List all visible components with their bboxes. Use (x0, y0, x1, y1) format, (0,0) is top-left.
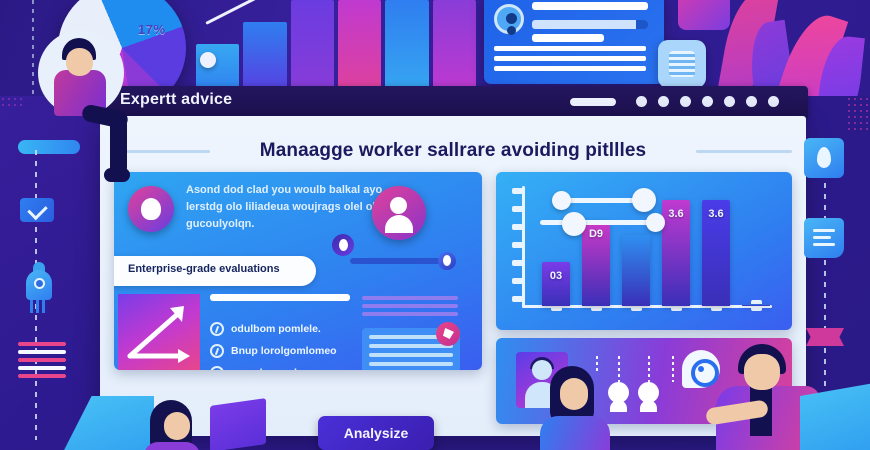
diamond-icon (804, 138, 844, 178)
chart-slider-top-knob-right[interactable] (632, 188, 656, 212)
check-badge-icon (20, 198, 54, 222)
y-tick (512, 206, 523, 212)
chart-bar: 3.6 (702, 200, 731, 306)
analysis-button[interactable]: Analysize (318, 416, 434, 450)
y-tick (512, 278, 523, 284)
target-icon (682, 350, 720, 388)
infographic-canvas: 17% Expertt advice Manaagge worker sallr… (0, 0, 870, 450)
chart-bar-label: D9 (582, 228, 611, 240)
hero-bar-group (196, 0, 476, 96)
chart-slider-bottom-knob-right[interactable] (646, 213, 665, 232)
page-title: Manaagge worker sallrare avoiding pitlll… (100, 140, 806, 162)
card-line (532, 2, 648, 10)
hero-bar (338, 0, 381, 96)
panel-side-rows (362, 296, 458, 320)
team-avatar-2 (638, 382, 659, 403)
hero-bar (433, 0, 476, 96)
chart-slider-top[interactable] (560, 198, 640, 203)
dashed-connector-right (824, 150, 826, 430)
chart-bars: 03D93.63.6 (536, 186, 776, 306)
toolbar-pill[interactable] (570, 98, 616, 106)
card-text-rows (494, 46, 646, 76)
chart-bar-label: 3.6 (702, 208, 731, 220)
toolbar-title: Expertt advice (120, 91, 232, 109)
y-tick (512, 242, 523, 248)
panel-body-text: Asond dod clad you woulb balkal ayo lers… (186, 182, 386, 233)
feature-pill[interactable]: Enterprise-grade evaluations (114, 256, 316, 286)
list-item-label: odulbom pomlele. (231, 323, 321, 335)
chart-bar-label: 03 (542, 270, 571, 282)
seated-person-icon (26, 12, 136, 192)
list-item-label: orocalrg eanlom rga. (231, 367, 335, 370)
y-tick (512, 224, 523, 230)
toolbar-dot[interactable] (724, 96, 735, 107)
analysis-button-label: Analysize (344, 425, 409, 441)
hero-bar (291, 0, 334, 96)
toolbar-dot[interactable] (658, 96, 669, 107)
stack-icon (658, 40, 706, 88)
profile-card (484, 0, 664, 84)
pin-icon (332, 234, 354, 256)
org-connector (672, 356, 674, 382)
growth-arrow-icon (118, 294, 200, 370)
chart-bar: 3.6 (662, 200, 691, 306)
chart-bar: 03 (542, 262, 571, 306)
main-window: Manaagge worker sallrare avoiding pitlll… (100, 116, 806, 436)
user-avatar-icon (372, 186, 426, 240)
hero-chip-tile (678, 0, 730, 30)
progress-bar (532, 20, 648, 29)
laptop-icon (210, 398, 266, 450)
toolbar-dot[interactable] (636, 96, 647, 107)
list-item: odulbom pomlele. (210, 322, 337, 336)
y-tick (512, 188, 523, 194)
lightbulb-icon (128, 186, 174, 232)
chart-slider-top-knob-left[interactable] (552, 191, 571, 210)
chart-bar-label: 3.6 (662, 208, 691, 220)
chart-bar (622, 235, 651, 306)
org-connector (648, 356, 650, 382)
check-circle-icon (210, 322, 224, 336)
document-icon (804, 218, 844, 258)
chart-slider-bottom-knob-left[interactable] (562, 212, 586, 236)
toolbar-dot[interactable] (746, 96, 757, 107)
feature-pill-label: Enterprise-grade evaluations (128, 263, 280, 275)
chart-bar: D9 (582, 220, 611, 306)
y-tick (512, 296, 523, 302)
hero-bar (243, 22, 286, 96)
toolbar-dots[interactable] (636, 96, 779, 107)
chart-bar (742, 304, 771, 306)
toolbar-dot[interactable] (702, 96, 713, 107)
ribbon-icon (806, 328, 844, 346)
user-avatar-icon (494, 4, 524, 34)
list-item-label: Bnup lorolgomlomeo (231, 345, 337, 357)
y-tick (512, 260, 523, 266)
chart-slider-bottom[interactable] (540, 220, 656, 225)
window-toolbar: Expertt advice (96, 86, 808, 118)
pie-chart-label: 17% (138, 22, 166, 37)
org-connector (618, 356, 620, 382)
hero-trend-dot (200, 52, 216, 68)
left-content-panel: Asond dod clad you woulb balkal ayo lers… (114, 172, 482, 370)
person-woman (538, 366, 618, 450)
bar-chart-panel: 03D93.63.6 (496, 172, 792, 330)
bullet-list: odulbom pomlele.Bnup lorolgomlomeoorocal… (210, 322, 337, 370)
toolbar-dot[interactable] (680, 96, 691, 107)
list-item: Bnup lorolgomlomeo (210, 344, 337, 358)
shelf-graphic (18, 140, 80, 154)
rocket-icon (20, 262, 56, 314)
check-circle-icon (210, 344, 224, 358)
panel-text-rows (210, 294, 350, 308)
card-line (532, 34, 604, 42)
hero-bar (385, 0, 428, 96)
list-lines-icon (18, 342, 66, 382)
check-circle-icon (210, 366, 224, 370)
list-item: orocalrg eanlom rga. (210, 366, 337, 370)
bookmark-icon (436, 322, 460, 346)
slider-control[interactable] (350, 258, 450, 264)
toolbar-dot[interactable] (768, 96, 779, 107)
